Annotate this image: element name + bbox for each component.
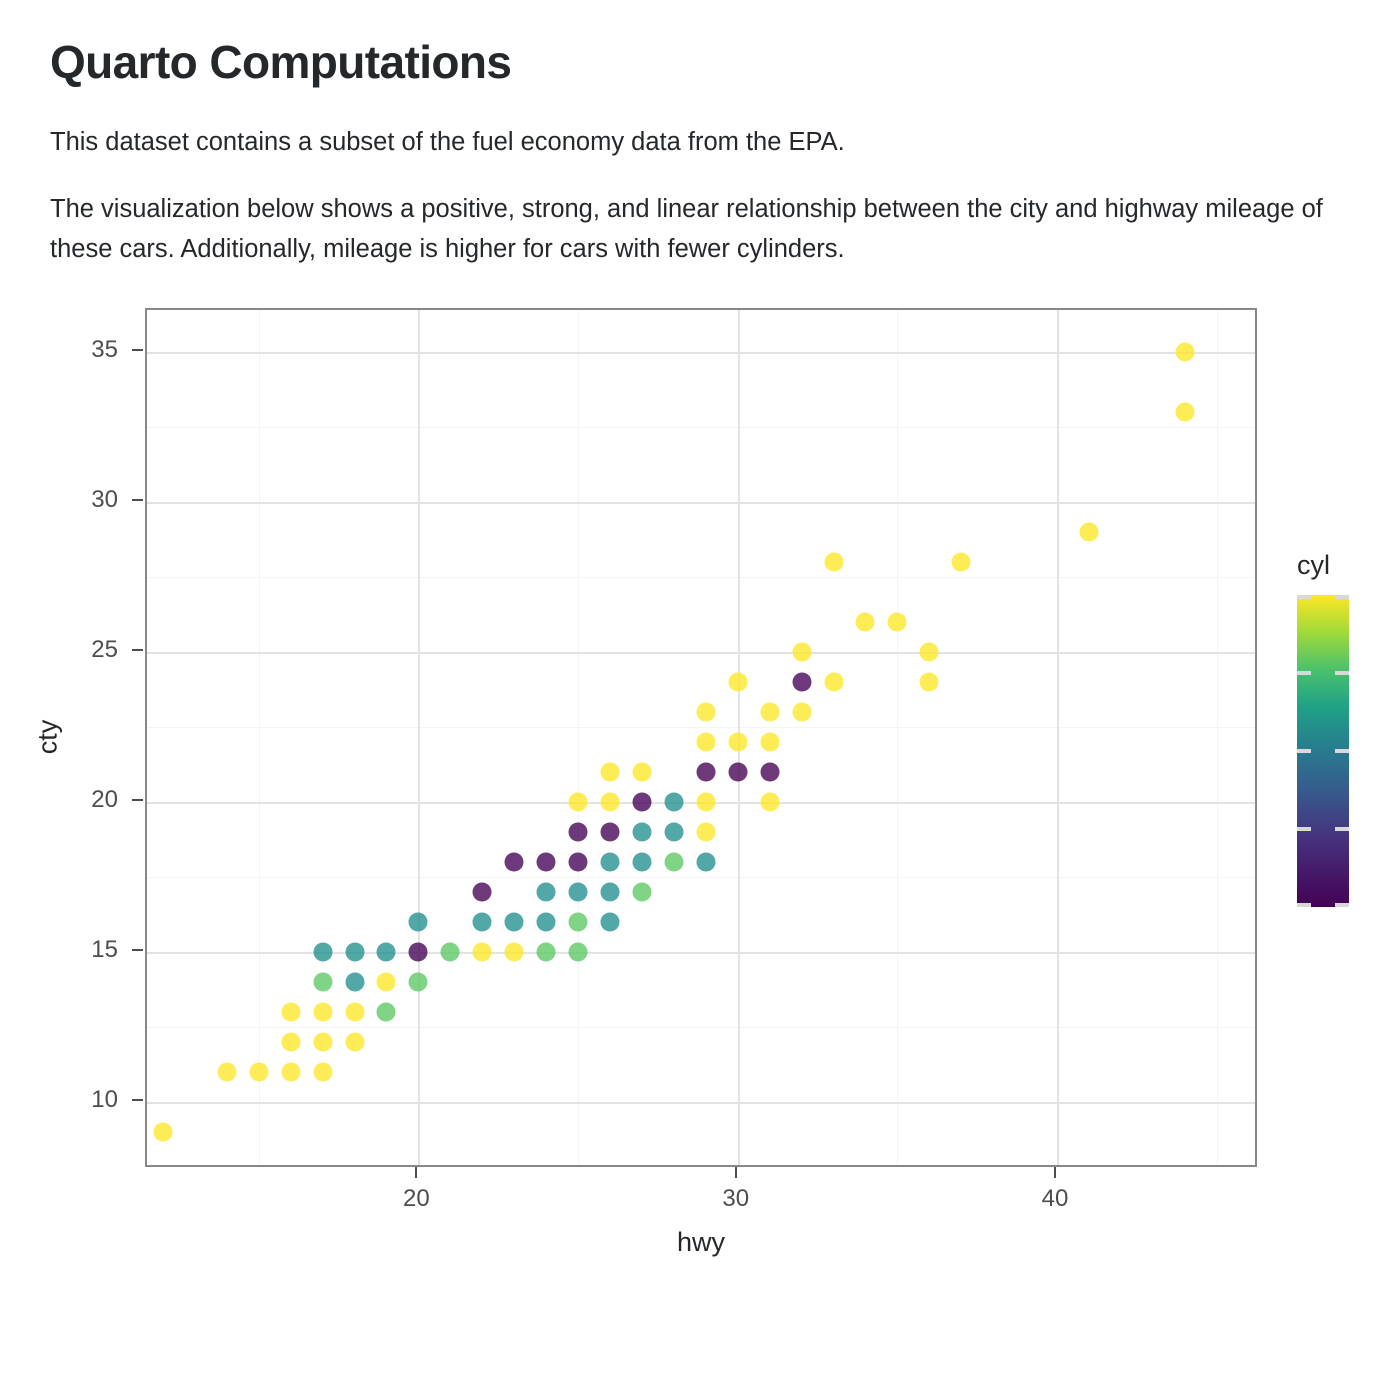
scatter-point: [1175, 403, 1194, 422]
scatter-plot-figure: 101520253035203040 cty hwy cyl: [0, 297, 1400, 1277]
y-axis-tick-mark: [132, 499, 143, 501]
scatter-point: [664, 853, 683, 872]
x-axis-tick-mark: [1054, 1167, 1056, 1178]
scatter-point: [600, 823, 619, 842]
y-axis-tick-label: 25: [48, 636, 118, 664]
x-axis-tick-mark: [415, 1167, 417, 1178]
scatter-point: [600, 793, 619, 812]
scatter-point: [696, 733, 715, 752]
gridline-minor-vertical: [897, 310, 898, 1165]
scatter-point: [632, 883, 651, 902]
scatter-point: [824, 673, 843, 692]
y-axis-tick-label: 35: [48, 336, 118, 364]
x-axis-tick-label: 30: [722, 1185, 749, 1213]
intro-paragraph-2: The visualization below shows a positive…: [50, 190, 1340, 269]
y-axis-tick-label: 10: [48, 1086, 118, 1114]
gridline-major-vertical: [1057, 310, 1059, 1165]
gridline-major-horizontal: [147, 502, 1255, 504]
scatter-point: [569, 883, 588, 902]
scatter-point: [377, 943, 396, 962]
scatter-point: [537, 943, 556, 962]
scatter-point: [760, 793, 779, 812]
scatter-point: [856, 613, 875, 632]
legend-tick-mark: [1335, 595, 1349, 599]
x-axis-label: hwy: [677, 1227, 725, 1258]
scatter-point: [217, 1063, 236, 1082]
scatter-point: [537, 913, 556, 932]
gridline-minor-horizontal: [147, 427, 1255, 428]
gridline-major-horizontal: [147, 1102, 1255, 1104]
legend-tick-mark: [1297, 903, 1311, 907]
scatter-point: [632, 763, 651, 782]
scatter-point: [569, 853, 588, 872]
scatter-point: [600, 913, 619, 932]
scatter-point: [345, 1003, 364, 1022]
y-axis-label: cty: [33, 720, 64, 755]
y-axis-tick-mark: [132, 349, 143, 351]
scatter-point: [345, 943, 364, 962]
scatter-point: [664, 793, 683, 812]
scatter-point: [600, 763, 619, 782]
scatter-point: [569, 793, 588, 812]
scatter-point: [920, 643, 939, 662]
scatter-point: [473, 913, 492, 932]
scatter-point: [728, 673, 747, 692]
scatter-point: [473, 943, 492, 962]
scatter-point: [1079, 523, 1098, 542]
gridline-minor-vertical: [259, 310, 260, 1165]
gridline-minor-horizontal: [147, 877, 1255, 878]
y-axis-tick-mark: [132, 949, 143, 951]
scatter-point: [345, 1033, 364, 1052]
scatter-point: [569, 943, 588, 962]
scatter-point: [1175, 343, 1194, 362]
legend-tick-mark: [1297, 595, 1311, 599]
scatter-point: [409, 913, 428, 932]
scatter-point: [792, 643, 811, 662]
scatter-point: [249, 1063, 268, 1082]
scatter-point: [952, 553, 971, 572]
y-axis-tick-label: 15: [48, 936, 118, 964]
scatter-point: [409, 973, 428, 992]
scatter-point: [760, 763, 779, 782]
scatter-point: [600, 883, 619, 902]
scatter-point: [696, 793, 715, 812]
gridline-major-vertical: [418, 310, 420, 1165]
legend: cyl: [1297, 552, 1349, 907]
legend-tick-mark: [1335, 749, 1349, 753]
gridline-major-horizontal: [147, 652, 1255, 654]
legend-title: cyl: [1297, 552, 1349, 579]
legend-tick-mark: [1335, 827, 1349, 831]
legend-tick-mark: [1297, 671, 1311, 675]
scatter-point: [313, 1063, 332, 1082]
scatter-point: [153, 1123, 172, 1142]
gridline-minor-horizontal: [147, 1027, 1255, 1028]
scatter-point: [505, 943, 524, 962]
plot-panel: [145, 308, 1257, 1167]
gridline-minor-vertical: [578, 310, 579, 1165]
scatter-point: [313, 973, 332, 992]
scatter-point: [281, 1003, 300, 1022]
y-axis-tick-label: 20: [48, 786, 118, 814]
scatter-point: [920, 673, 939, 692]
scatter-point: [696, 853, 715, 872]
scatter-point: [792, 673, 811, 692]
scatter-point: [632, 793, 651, 812]
scatter-point: [696, 703, 715, 722]
scatter-point: [696, 763, 715, 782]
scatter-point: [281, 1033, 300, 1052]
scatter-point: [600, 853, 619, 872]
scatter-point: [537, 883, 556, 902]
x-axis-tick-label: 40: [1042, 1185, 1069, 1213]
scatter-point: [505, 913, 524, 932]
y-axis-tick-mark: [132, 1099, 143, 1101]
page-title: Quarto Computations: [50, 36, 1350, 89]
scatter-point: [569, 913, 588, 932]
scatter-point: [728, 733, 747, 752]
y-axis-tick-mark: [132, 649, 143, 651]
scatter-point: [824, 553, 843, 572]
scatter-point: [632, 853, 651, 872]
scatter-point: [728, 763, 747, 782]
scatter-point: [569, 823, 588, 842]
scatter-point: [345, 973, 364, 992]
scatter-point: [313, 943, 332, 962]
legend-tick-mark: [1335, 903, 1349, 907]
scatter-point: [505, 853, 524, 872]
legend-tick-mark: [1297, 749, 1311, 753]
x-axis-tick-mark: [735, 1167, 737, 1178]
scatter-point: [473, 883, 492, 902]
scatter-point: [760, 703, 779, 722]
x-axis-tick-label: 20: [403, 1185, 430, 1213]
scatter-point: [441, 943, 460, 962]
gridline-minor-horizontal: [147, 577, 1255, 578]
scatter-point: [377, 1003, 396, 1022]
scatter-point: [792, 703, 811, 722]
scatter-point: [313, 1033, 332, 1052]
y-axis-tick-label: 30: [48, 486, 118, 514]
scatter-point: [313, 1003, 332, 1022]
intro-paragraph-1: This dataset contains a subset of the fu…: [50, 123, 1340, 163]
scatter-point: [632, 823, 651, 842]
scatter-point: [409, 943, 428, 962]
scatter-point: [888, 613, 907, 632]
gridline-minor-vertical: [1217, 310, 1218, 1165]
scatter-point: [664, 823, 683, 842]
scatter-point: [696, 823, 715, 842]
gridline-minor-horizontal: [147, 727, 1255, 728]
legend-colorbar: [1297, 595, 1349, 907]
y-axis-tick-mark: [132, 799, 143, 801]
scatter-point: [537, 853, 556, 872]
scatter-point: [281, 1063, 300, 1082]
legend-tick-mark: [1335, 671, 1349, 675]
gridline-major-horizontal: [147, 352, 1255, 354]
scatter-point: [377, 973, 396, 992]
document-body: Quarto Computations This dataset contain…: [0, 0, 1400, 269]
scatter-point: [760, 733, 779, 752]
legend-tick-mark: [1297, 827, 1311, 831]
